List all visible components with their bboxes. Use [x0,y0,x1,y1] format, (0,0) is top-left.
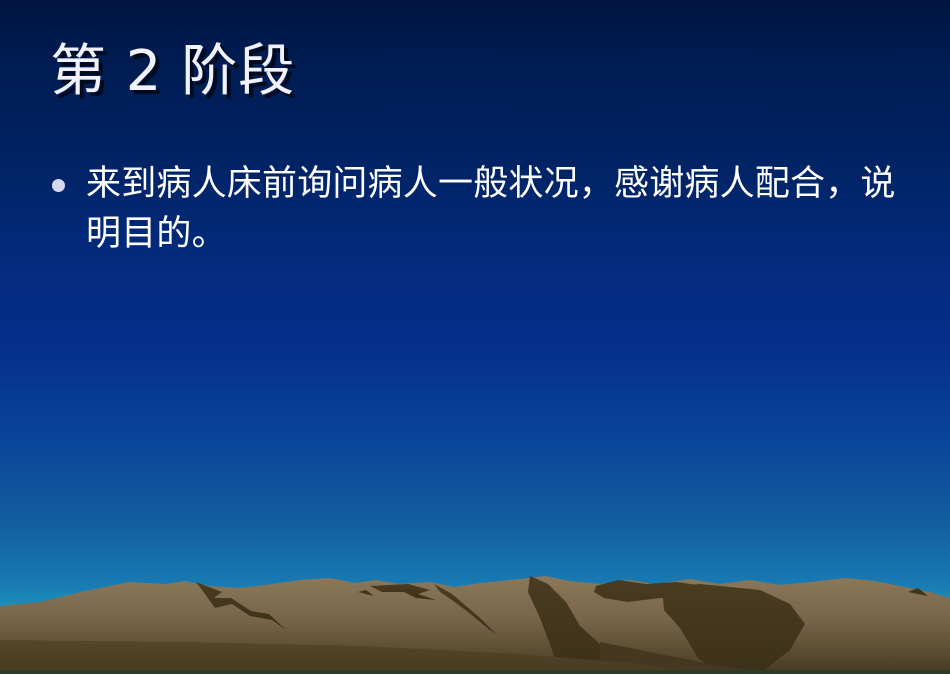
bullet-text: 来到病人床前询问病人一般状况，感谢病人配合，说明目的。 [86,160,914,259]
bottom-divider [0,670,950,674]
mountain-landscape-graphic [0,554,950,674]
landscape-svg [0,554,950,674]
body-content: 来到病人床前询问病人一般状况，感谢病人配合，说明目的。 [52,160,914,259]
bullet-dot-icon [52,179,65,192]
presentation-slide: 第 2 阶段 来到病人床前询问病人一般状况，感谢病人配合，说明目的。 [0,0,950,674]
list-item: 来到病人床前询问病人一般状况，感谢病人配合，说明目的。 [52,160,914,259]
page-title: 第 2 阶段 [50,44,900,100]
